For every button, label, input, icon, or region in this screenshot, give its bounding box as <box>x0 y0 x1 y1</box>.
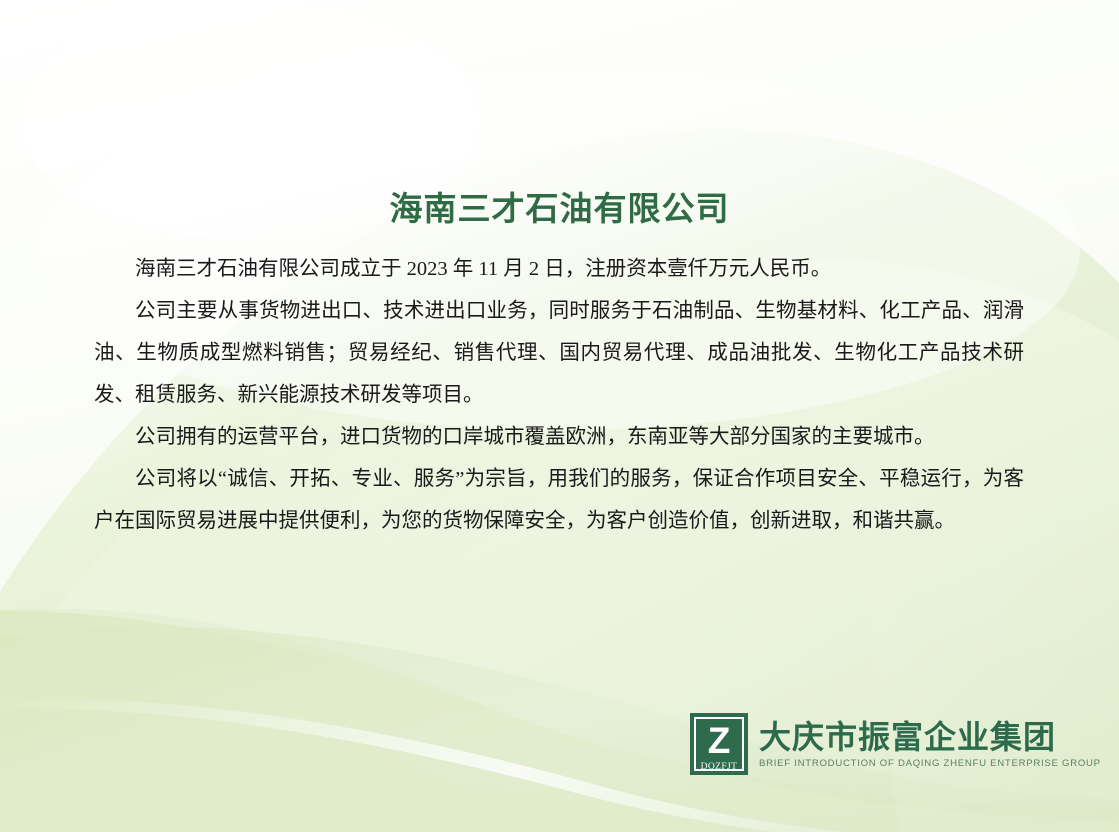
logo-company-name-cn: 大庆市振富企业集团 <box>759 719 1101 755</box>
paragraph-2: 公司主要从事货物进出口、技术进出口业务，同时服务于石油制品、生物基材料、化工产品… <box>94 290 1024 416</box>
logo-letter-z: Z <box>708 720 731 761</box>
paragraph-4: 公司将以“诚信、开拓、专业、服务”为宗旨，用我们的服务，保证合作项目安全、平稳运… <box>94 458 1024 542</box>
logo-company-name-en: BRIEF INTRODUCTION OF DAQING ZHENFU ENTE… <box>759 758 1101 770</box>
logo-mark-icon: Z DQZFJT <box>690 713 748 775</box>
logo-abbreviation: DQZFJT <box>701 762 738 772</box>
company-logo: Z DQZFJT 大庆市振富企业集团 BRIEF INTRODUCTION OF… <box>690 713 1101 775</box>
body-text: 海南三才石油有限公司成立于 2023 年 11 月 2 日，注册资本壹仟万元人民… <box>94 248 1024 542</box>
paragraph-1: 海南三才石油有限公司成立于 2023 年 11 月 2 日，注册资本壹仟万元人民… <box>94 248 1024 290</box>
paragraph-3: 公司拥有的运营平台，进口货物的口岸城市覆盖欧洲，东南亚等大部分国家的主要城市。 <box>94 416 1024 458</box>
logo-text-block: 大庆市振富企业集团 BRIEF INTRODUCTION OF DAQING Z… <box>759 719 1101 770</box>
page-title: 海南三才石油有限公司 <box>0 182 1119 230</box>
slide-page: 海南三才石油有限公司 海南三才石油有限公司成立于 2023 年 11 月 2 日… <box>0 0 1119 832</box>
slide-content: 海南三才石油有限公司 海南三才石油有限公司成立于 2023 年 11 月 2 日… <box>0 0 1119 832</box>
